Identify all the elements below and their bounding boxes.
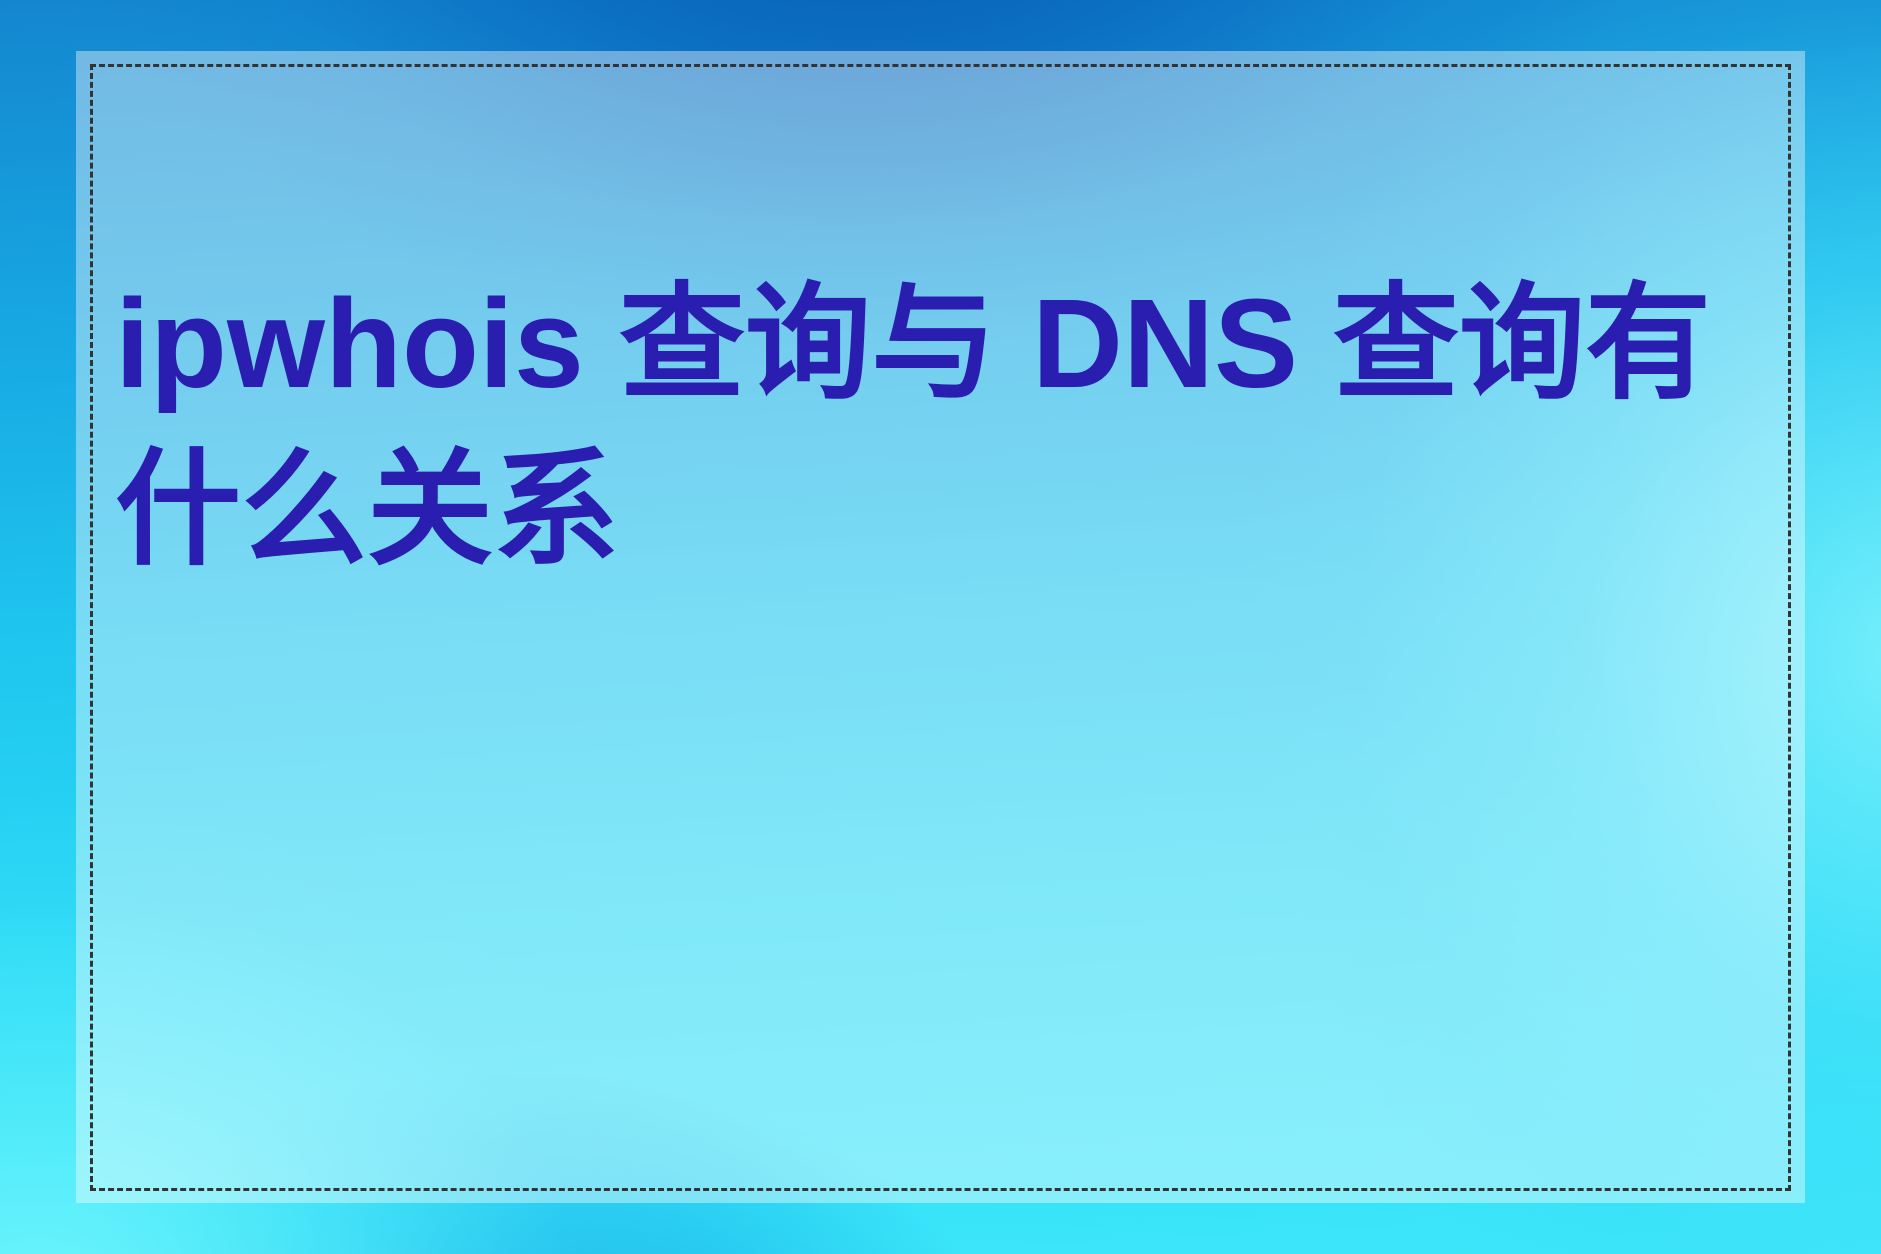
card-canvas: ipwhois 查询与 DNS 查询有什么关系 [0, 0, 1881, 1254]
headline-container: ipwhois 查询与 DNS 查询有什么关系 [115, 261, 1766, 1189]
content-panel: ipwhois 查询与 DNS 查询有什么关系 [76, 51, 1805, 1203]
page-title: ipwhois 查询与 DNS 查询有什么关系 [115, 261, 1766, 593]
